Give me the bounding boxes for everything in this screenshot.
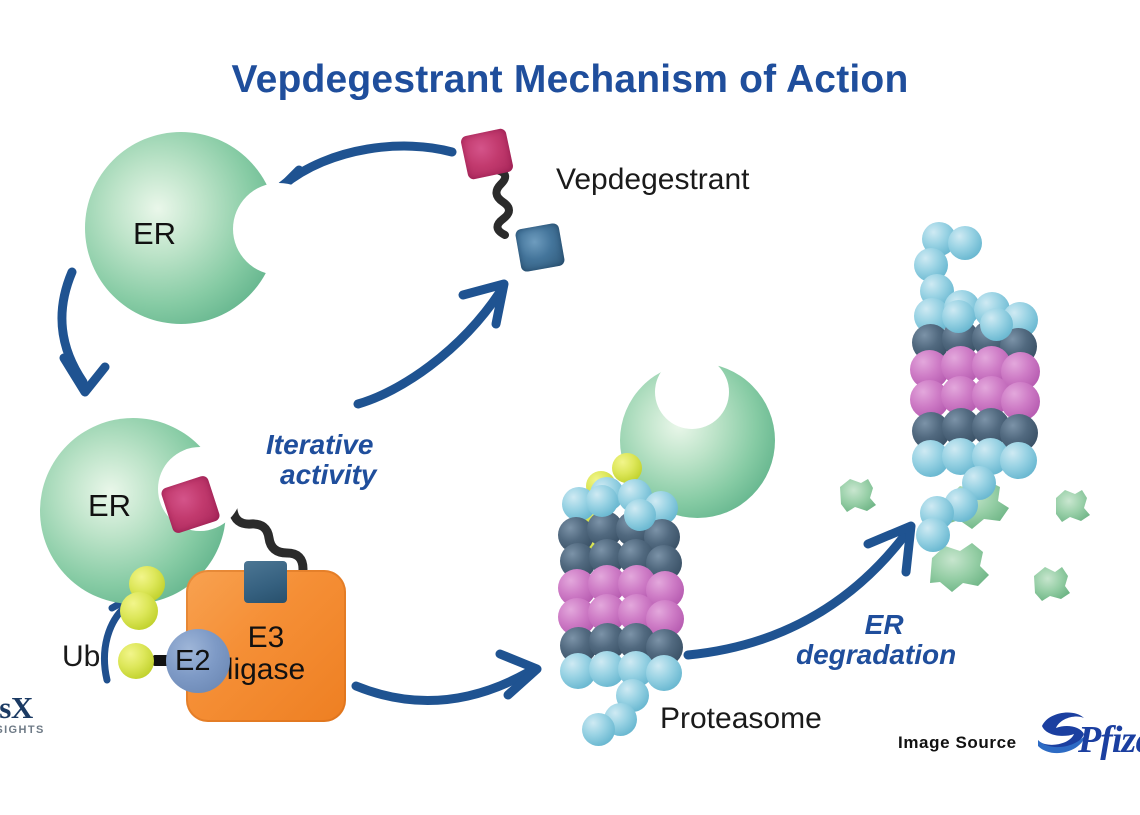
proteasome-sphere	[586, 485, 618, 517]
proteasome-sphere	[646, 655, 682, 691]
arrow-er-to-complex	[62, 272, 105, 392]
proteasome-sphere	[980, 308, 1013, 341]
iterative-activity-line1: Iterative	[266, 430, 377, 460]
vepdegestrant-label: Vepdegestrant	[556, 163, 750, 197]
proteasome-tail-sphere	[916, 518, 950, 552]
diagram-canvas: Vepdegestrant Mechanism of Action	[0, 0, 1140, 815]
ubiquitin-sphere-chain-2	[120, 592, 158, 630]
image-source-label: Image Source	[898, 733, 1017, 753]
vepdegestrant-warhead-free	[460, 128, 514, 181]
drug-linker-free	[496, 170, 509, 235]
proteasome-label: Proteasome	[660, 702, 822, 736]
er-label-bound: ER	[88, 488, 131, 524]
er-degradation-line1: ER	[812, 610, 956, 640]
vepdegestrant-anchor-bound	[244, 561, 287, 603]
watermark-logo-subtext: NSIGHTS	[0, 724, 45, 736]
arrow-to-proteasome	[356, 654, 537, 700]
er-pocket-at-proteasome	[655, 355, 729, 429]
proteasome-sphere	[942, 300, 975, 333]
er-degradation-line2: degradation	[796, 640, 956, 670]
watermark-logo: csX NSIGHTS	[0, 690, 45, 736]
er-binding-pocket-free	[233, 183, 325, 275]
vepdegestrant-anchor-free	[515, 223, 566, 273]
proteasome-tail-sphere	[582, 713, 615, 746]
er-degradation-label: ER degradation	[812, 610, 956, 670]
proteasome-sphere	[624, 499, 656, 531]
e2-label: E2	[175, 645, 210, 678]
er-label-free: ER	[133, 216, 176, 252]
ubiquitin-sphere-free	[118, 643, 154, 679]
iterative-activity-line2: activity	[280, 460, 377, 490]
iterative-activity-label: Iterative activity	[266, 430, 377, 490]
proteasome-tail-sphere	[948, 226, 982, 260]
arrow-iterative-activity	[358, 284, 504, 404]
ub-label: Ub	[62, 640, 100, 674]
pfizer-wordmark: Pfize	[1078, 718, 1140, 762]
watermark-logo-text: csX	[0, 690, 45, 726]
proteasome-sphere	[1000, 442, 1037, 479]
